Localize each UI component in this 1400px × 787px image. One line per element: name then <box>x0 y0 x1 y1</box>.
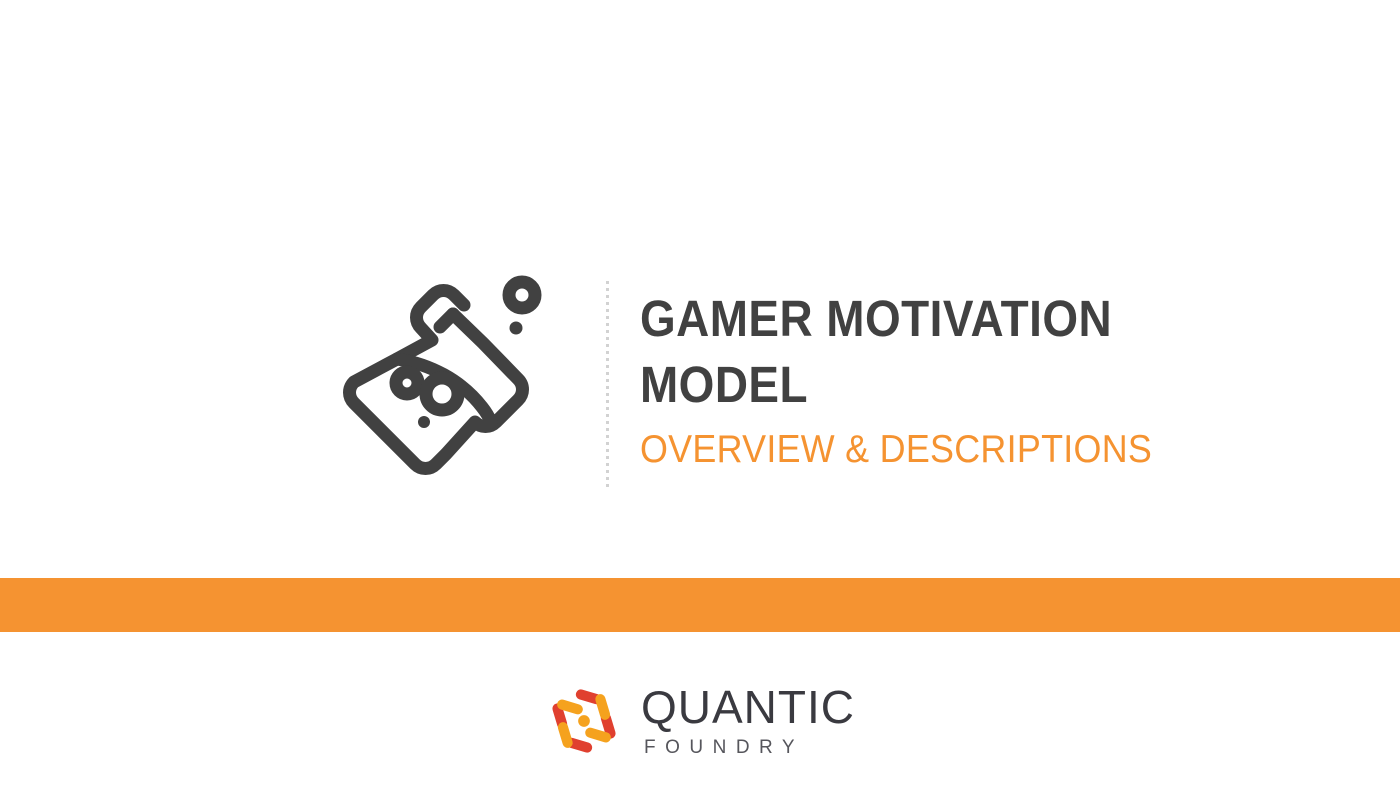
title-block: GAMER MOTIVATION MODEL OVERVIEW & DESCRI… <box>640 286 1340 478</box>
quantic-foundry-molecule-logo-icon <box>545 682 623 760</box>
hero-section: GAMER MOTIVATION MODEL OVERVIEW & DESCRI… <box>0 0 1400 578</box>
page-title-line-2: MODEL <box>640 352 1270 418</box>
brand-wordmark: QUANTIC FOUNDRY <box>641 682 855 759</box>
brand-tagline: FOUNDRY <box>644 737 855 759</box>
orange-accent-band <box>0 578 1400 632</box>
title-slide: GAMER MOTIVATION MODEL OVERVIEW & DESCRI… <box>0 0 1400 787</box>
footer-logo-area: QUANTIC FOUNDRY <box>0 632 1400 787</box>
page-title-line-1: GAMER MOTIVATION <box>640 286 1270 352</box>
brand-logo-lockup: QUANTIC FOUNDRY <box>545 682 855 760</box>
brand-name: QUANTIC <box>641 684 855 730</box>
science-flask-icon <box>336 268 548 488</box>
page-subtitle: OVERVIEW & DESCRIPTIONS <box>640 422 1284 478</box>
vertical-dotted-divider <box>606 281 609 488</box>
